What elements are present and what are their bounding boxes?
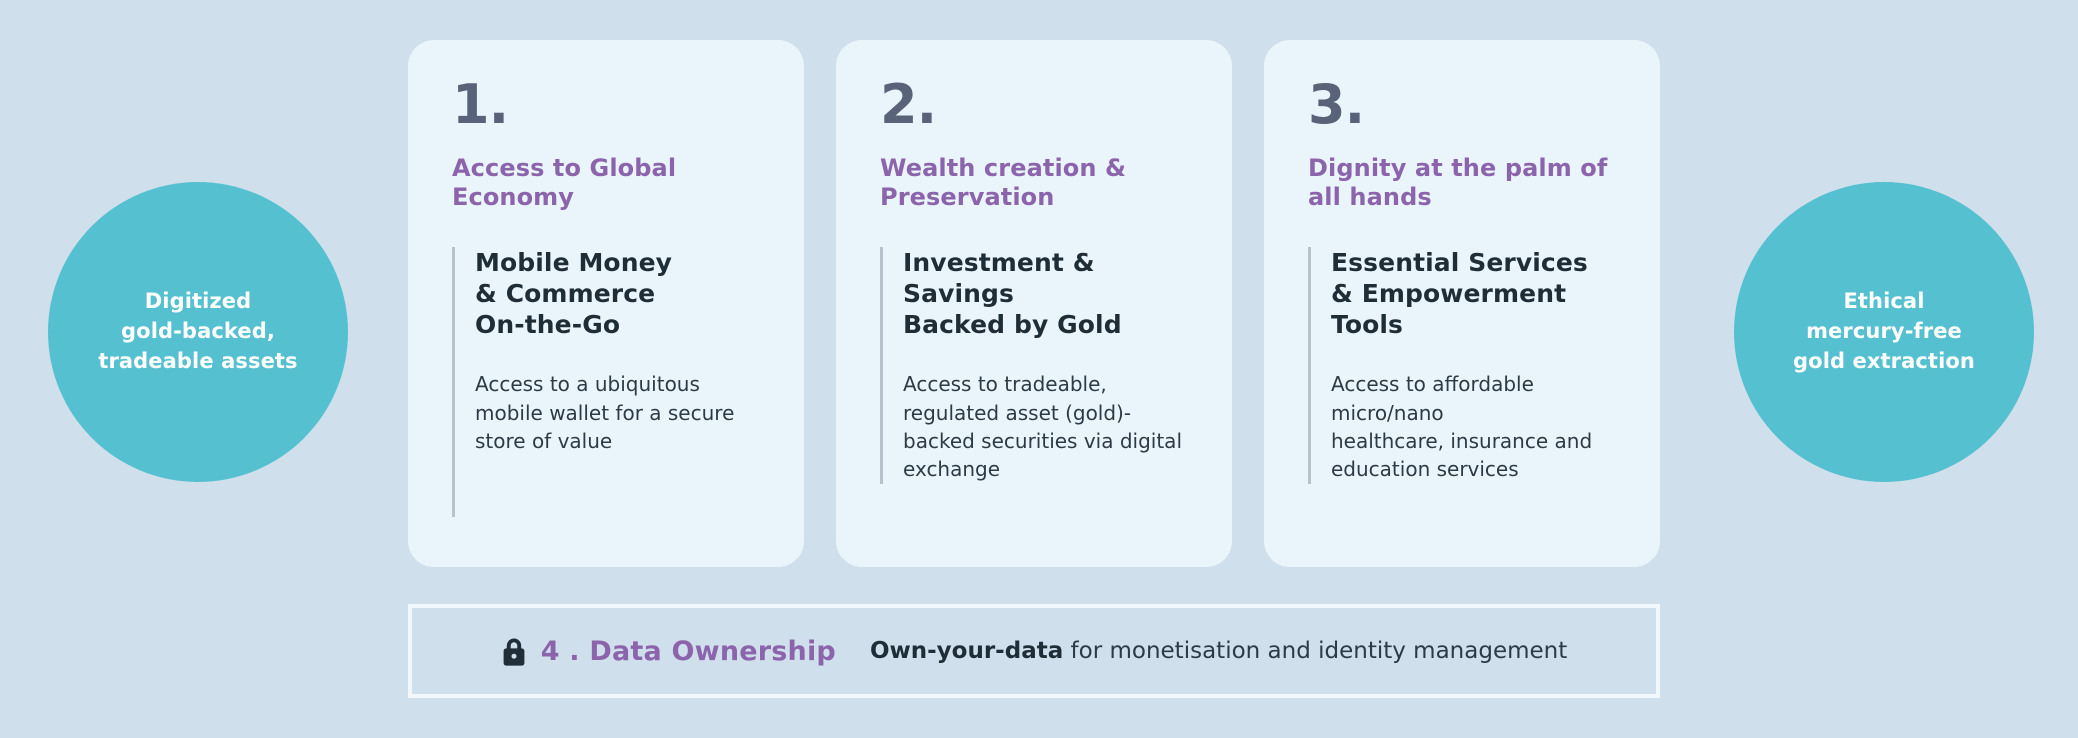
- card-3-subtitle: Essential Services & Empowerment Tools: [1331, 247, 1616, 341]
- card-3-title: Dignity at the palm of all hands: [1308, 154, 1616, 213]
- card-2-number: 2.: [880, 78, 1188, 132]
- left-circle-badge: Digitized gold-backed, tradeable assets: [48, 182, 348, 482]
- infographic-canvas: Digitized gold-backed, tradeable assets …: [0, 0, 2078, 738]
- card-3-number: 3.: [1308, 78, 1616, 132]
- card-1-body: Mobile Money & Commerce On-the-Go Access…: [452, 247, 760, 517]
- banner-text-bold: Own-your-data: [870, 638, 1063, 664]
- lock-icon: [501, 637, 527, 667]
- card-2-description: Access to tradeable, regulated asset (go…: [903, 370, 1188, 484]
- card-2[interactable]: 2. Wealth creation & Preservation Invest…: [836, 40, 1232, 567]
- card-3-description: Access to affordable micro/nano healthca…: [1331, 370, 1616, 484]
- card-1[interactable]: 1. Access to Global Economy Mobile Money…: [408, 40, 804, 567]
- banner-text-rest: for monetisation and identity management: [1063, 638, 1567, 664]
- card-3-body: Essential Services & Empowerment Tools A…: [1308, 247, 1616, 484]
- banner-text: Own-your-data for monetisation and ident…: [870, 638, 1567, 664]
- banner-content: 4 . Data Ownership Own-your-data for mon…: [501, 636, 1568, 667]
- card-1-title: Access to Global Economy: [452, 154, 760, 213]
- card-2-body: Investment & Savings Backed by Gold Acce…: [880, 247, 1188, 484]
- card-1-subtitle: Mobile Money & Commerce On-the-Go: [475, 247, 760, 341]
- card-2-title: Wealth creation & Preservation: [880, 154, 1188, 213]
- card-3[interactable]: 3. Dignity at the palm of all hands Esse…: [1264, 40, 1660, 567]
- card-2-subtitle: Investment & Savings Backed by Gold: [903, 247, 1188, 341]
- right-circle-badge: Ethical mercury-free gold extraction: [1734, 182, 2034, 482]
- data-ownership-banner[interactable]: 4 . Data Ownership Own-your-data for mon…: [408, 604, 1660, 698]
- cards-row: 1. Access to Global Economy Mobile Money…: [408, 40, 1660, 567]
- card-1-description: Access to a ubiquitous mobile wallet for…: [475, 370, 760, 455]
- right-circle-text: Ethical mercury-free gold extraction: [1775, 287, 1993, 376]
- card-1-number: 1.: [452, 78, 760, 132]
- banner-label: 4 . Data Ownership: [541, 636, 836, 667]
- left-circle-text: Digitized gold-backed, tradeable assets: [80, 287, 315, 376]
